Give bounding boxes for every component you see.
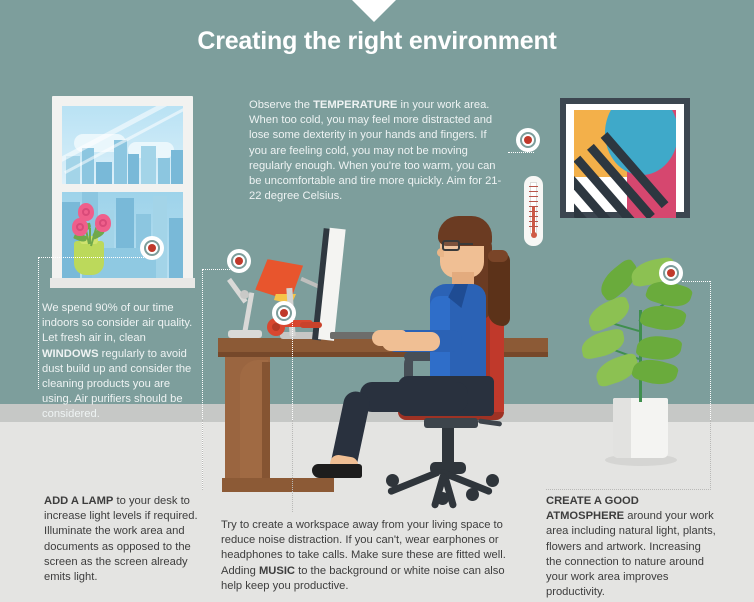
plant-leaf: [635, 332, 682, 363]
connector-atmos-v: [710, 281, 711, 420]
thermometer: [524, 176, 543, 246]
marker-lamp[interactable]: [227, 249, 251, 273]
chair-caster: [486, 474, 499, 487]
window-sill: [50, 278, 195, 288]
connector-music-v: [292, 320, 293, 420]
callout-atmosphere-text: CREATE A GOOD ATMOSPHERE around your wor…: [546, 494, 718, 600]
desk-base: [222, 478, 334, 492]
building: [158, 158, 170, 186]
eyeglasses: [442, 240, 460, 251]
building: [82, 148, 94, 186]
connector-music-v-floor: [292, 420, 293, 512]
building: [128, 154, 139, 186]
connector-lamp-v-floor: [202, 420, 203, 490]
chair-gas-cylinder: [442, 428, 454, 466]
potted-plant: [575, 258, 700, 463]
chair-caster: [436, 492, 449, 505]
callout-music-text: Try to create a workspace away from your…: [221, 518, 517, 594]
thigh: [360, 382, 468, 412]
stem: [89, 228, 91, 244]
chair-caster: [466, 488, 479, 501]
infographic-canvas: Creating the right environment: [0, 0, 754, 602]
flower-vase: [74, 241, 104, 275]
connector-atmos-h-bottom: [546, 489, 711, 490]
window-mullion: [62, 184, 183, 192]
connector-window-h: [38, 257, 156, 258]
chair-caster: [386, 474, 399, 487]
chair-mechanism: [424, 418, 478, 428]
callout-lamp-text: ADD A LAMP to your desk to increase ligh…: [44, 494, 216, 585]
marker-window[interactable]: [140, 236, 164, 260]
shoe: [312, 464, 362, 478]
page-title: Creating the right environment: [0, 27, 754, 56]
callout-temperature-text: Observe the TEMPERATURE in your work are…: [249, 98, 507, 204]
rose-flower: [72, 218, 88, 236]
callout-windows-text: We spend 90% of our time indoors so cons…: [42, 301, 202, 423]
connector-atmos-h: [682, 281, 710, 282]
building: [96, 162, 112, 186]
monitor-foot: [280, 332, 316, 339]
top-arrow-notch: [352, 0, 396, 22]
hair-tie: [488, 250, 508, 262]
rose-flower: [95, 214, 111, 232]
marker-thermometer[interactable]: [516, 128, 540, 152]
framed-artwork: [560, 98, 690, 218]
marker-plant[interactable]: [659, 261, 683, 285]
artwork-canvas: [574, 110, 676, 218]
hand: [372, 330, 406, 346]
marker-headphones[interactable]: [272, 301, 296, 325]
headphone-band-shade: [300, 322, 322, 328]
connector-atmos-v-floor: [710, 420, 711, 490]
desk-divider: [262, 362, 270, 480]
building: [169, 218, 183, 278]
connector-window-v: [38, 257, 39, 389]
window-pane-top: [62, 106, 183, 186]
plant-pot-shade: [613, 398, 631, 458]
lamp-joint: [240, 290, 249, 299]
ponytail: [488, 252, 510, 326]
thermometer-bulb: [531, 232, 537, 238]
building: [171, 150, 183, 186]
building: [141, 146, 156, 186]
connector-temp-h: [508, 152, 534, 153]
eyeglasses-temple: [459, 243, 473, 245]
